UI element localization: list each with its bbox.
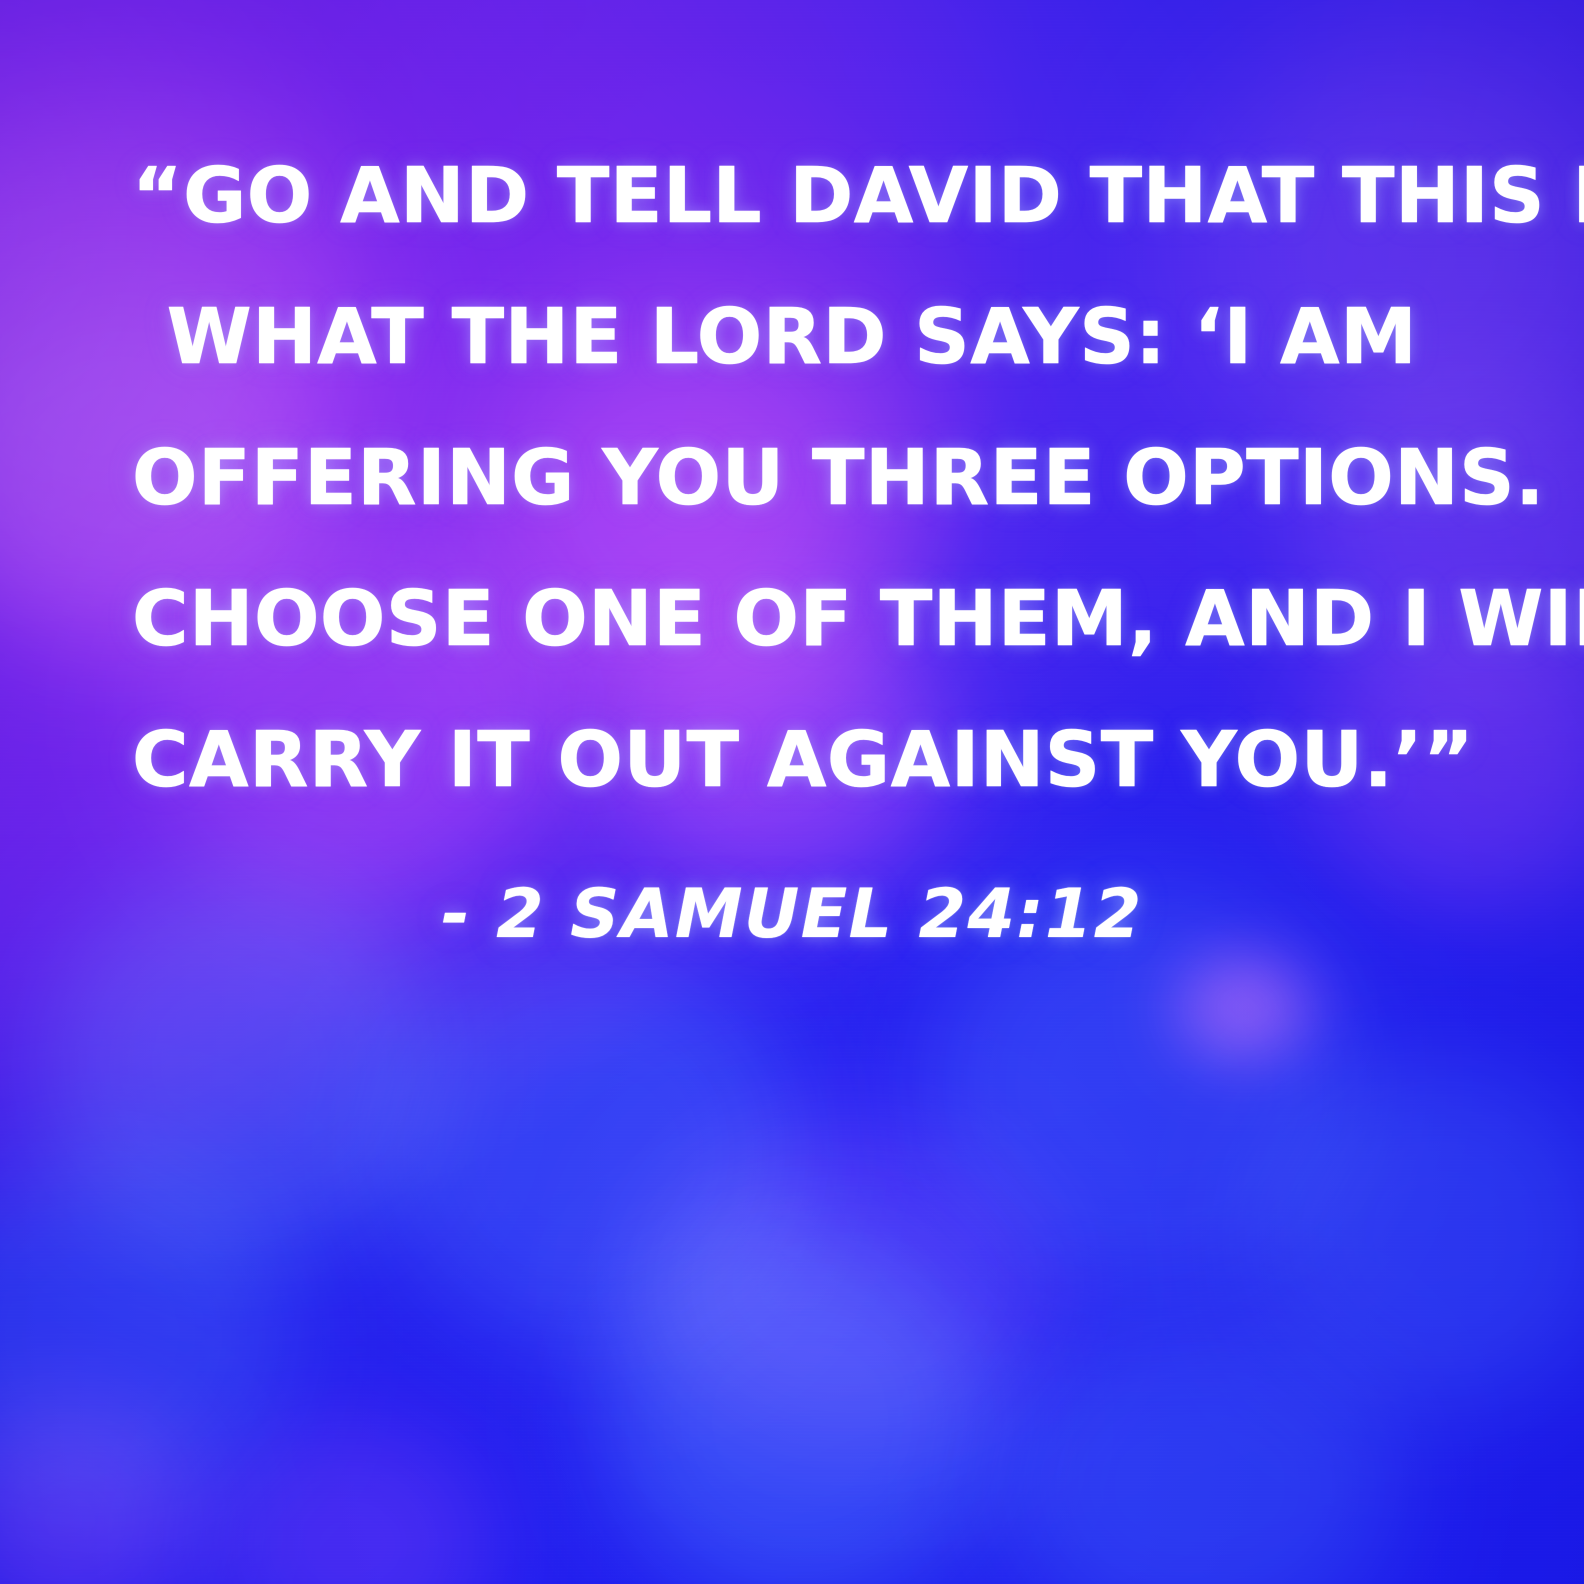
scripture-quote: “GO AND TELL DAVID THAT THIS IS WHAT THE… bbox=[132, 126, 1452, 831]
quote-line: “GO AND TELL DAVID THAT THIS IS bbox=[132, 126, 1452, 267]
quote-line: CHOOSE ONE OF THEM, AND I WILL bbox=[132, 549, 1452, 690]
quote-line: WHAT THE LORD SAYS: ‘I AM bbox=[132, 267, 1452, 408]
scripture-reference: - 2 SAMUEL 24:12 bbox=[441, 875, 1142, 955]
quote-line: OFFERING YOU THREE OPTIONS. bbox=[132, 408, 1452, 549]
quote-graphic-canvas: “GO AND TELL DAVID THAT THIS IS WHAT THE… bbox=[0, 0, 1584, 1584]
quote-content: “GO AND TELL DAVID THAT THIS IS WHAT THE… bbox=[0, 0, 1584, 1584]
quote-line: CARRY IT OUT AGAINST YOU.’” bbox=[132, 690, 1452, 831]
